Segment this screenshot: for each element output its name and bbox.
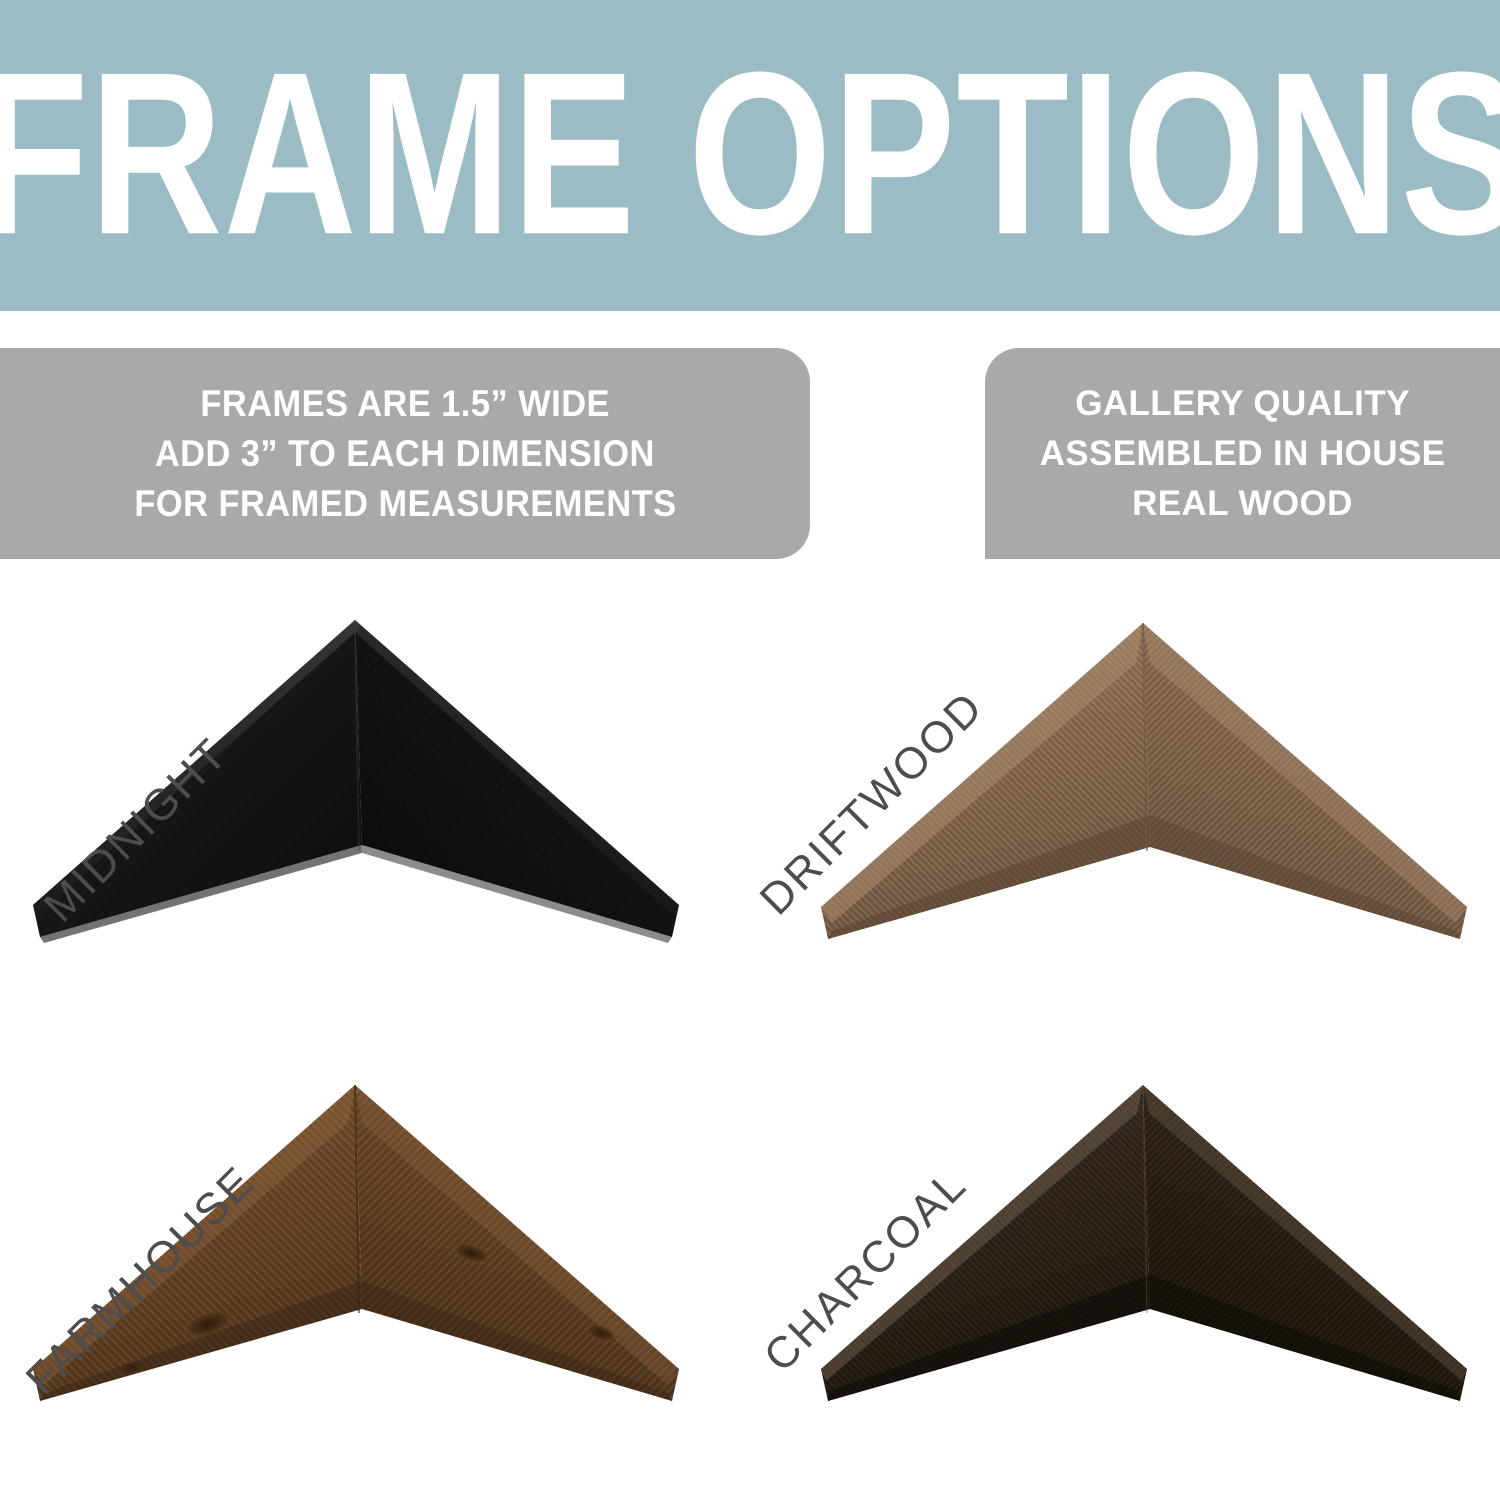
info-line: REAL WOOD — [1132, 479, 1353, 529]
info-line: FOR FRAMED MEASUREMENTS — [134, 479, 676, 529]
frame-corner-midnight — [0, 575, 750, 1037]
info-box-quality: GALLERY QUALITY ASSEMBLED IN HOUSE REAL … — [985, 348, 1500, 559]
frame-option-driftwood[interactable]: DRIFTWOOD — [750, 575, 1500, 1037]
frame-option-midnight[interactable]: MIDNIGHT — [0, 575, 750, 1037]
info-line: ASSEMBLED IN HOUSE — [1040, 429, 1446, 479]
frame-corner-farmhouse — [0, 1037, 750, 1499]
header-banner: FRAME OPTIONS — [0, 0, 1500, 311]
info-line: FRAMES ARE 1.5” WIDE — [200, 379, 610, 429]
frame-options-grid: MIDNIGHT — [0, 575, 1500, 1500]
frame-option-farmhouse[interactable]: FARMHOUSE — [0, 1037, 750, 1499]
info-box-measurements: FRAMES ARE 1.5” WIDE ADD 3” TO EACH DIME… — [0, 348, 810, 559]
info-line: ADD 3” TO EACH DIMENSION — [155, 429, 655, 479]
frame-option-charcoal[interactable]: CHARCOAL — [750, 1037, 1500, 1499]
page-title: FRAME OPTIONS — [0, 38, 1500, 270]
info-line: GALLERY QUALITY — [1075, 379, 1410, 429]
